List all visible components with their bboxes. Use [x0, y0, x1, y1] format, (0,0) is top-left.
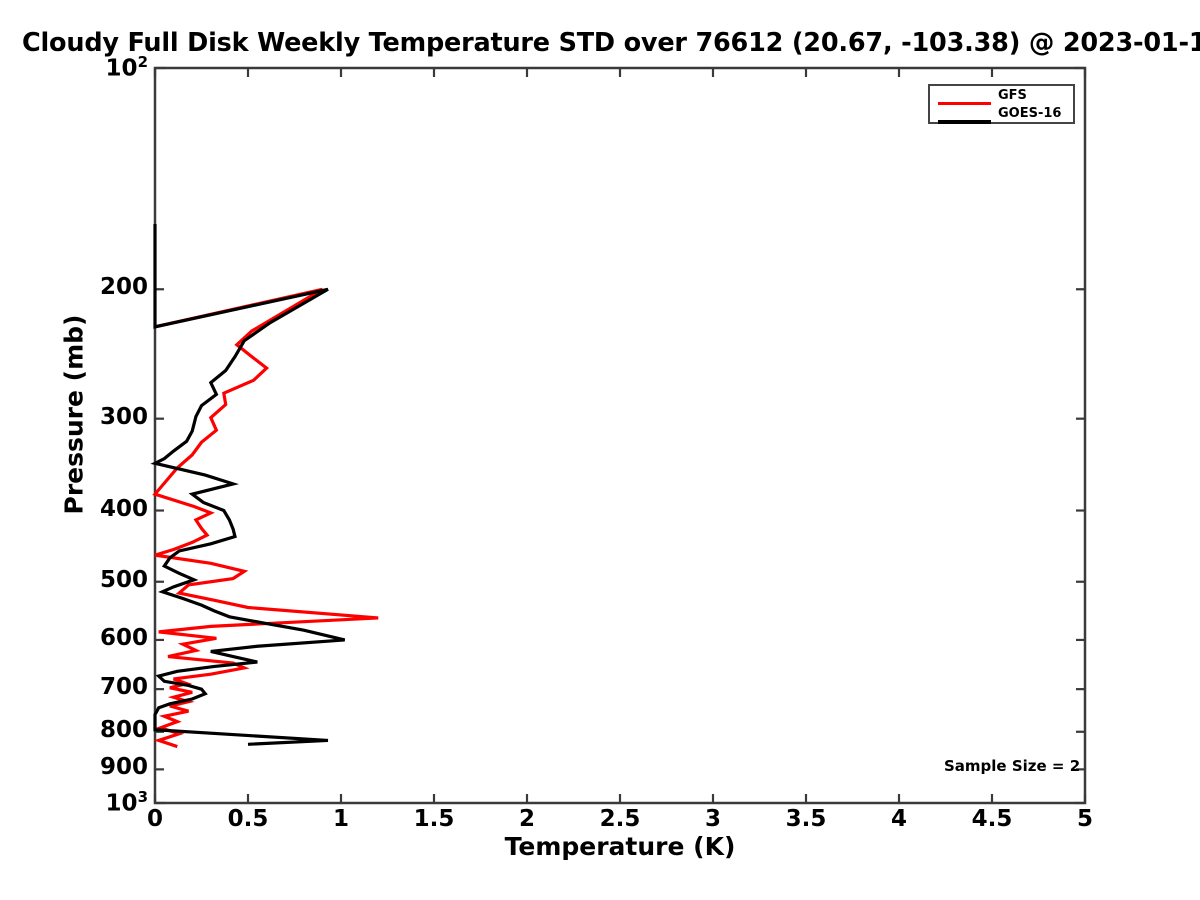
y-tick-label: 500	[0, 567, 148, 593]
legend-entry-goes16: GOES-16	[930, 112, 1073, 130]
x-tick-label: 4.5	[952, 806, 1032, 832]
x-tick-label: 1.5	[394, 806, 474, 832]
legend: GFS GOES-16	[928, 84, 1075, 124]
x-tick-label: 3	[673, 806, 753, 832]
legend-swatch-goes16	[938, 120, 991, 124]
y-tick-label: 600	[0, 625, 148, 651]
x-tick-label: 5	[1045, 806, 1125, 832]
x-tick-label: 3.5	[766, 806, 846, 832]
y-tick-label: 700	[0, 674, 148, 700]
y-tick-label: 103	[0, 788, 148, 817]
y-tick-label: 300	[0, 404, 148, 430]
sample-size-annotation: Sample Size = 2	[944, 757, 1080, 775]
legend-label-goes16: GOES-16	[998, 106, 1061, 121]
x-tick-label: 0.5	[208, 806, 288, 832]
series-line-goes-16	[155, 224, 345, 744]
x-tick-label: 2	[487, 806, 567, 832]
x-tick-label: 4	[859, 806, 939, 832]
x-tick-label: 1	[301, 806, 381, 832]
y-tick-label: 900	[0, 754, 148, 780]
y-tick-label: 400	[0, 496, 148, 522]
y-tick-label: 800	[0, 717, 148, 743]
legend-label-gfs: GFS	[998, 88, 1027, 103]
series-line-gfs	[155, 289, 378, 746]
y-tick-label: 200	[0, 274, 148, 300]
axis-frame	[155, 68, 1085, 803]
figure-canvas: Cloudy Full Disk Weekly Temperature STD …	[0, 0, 1200, 900]
legend-swatch-gfs	[938, 102, 991, 105]
x-tick-label: 2.5	[580, 806, 660, 832]
y-tick-label: 102	[0, 53, 148, 82]
